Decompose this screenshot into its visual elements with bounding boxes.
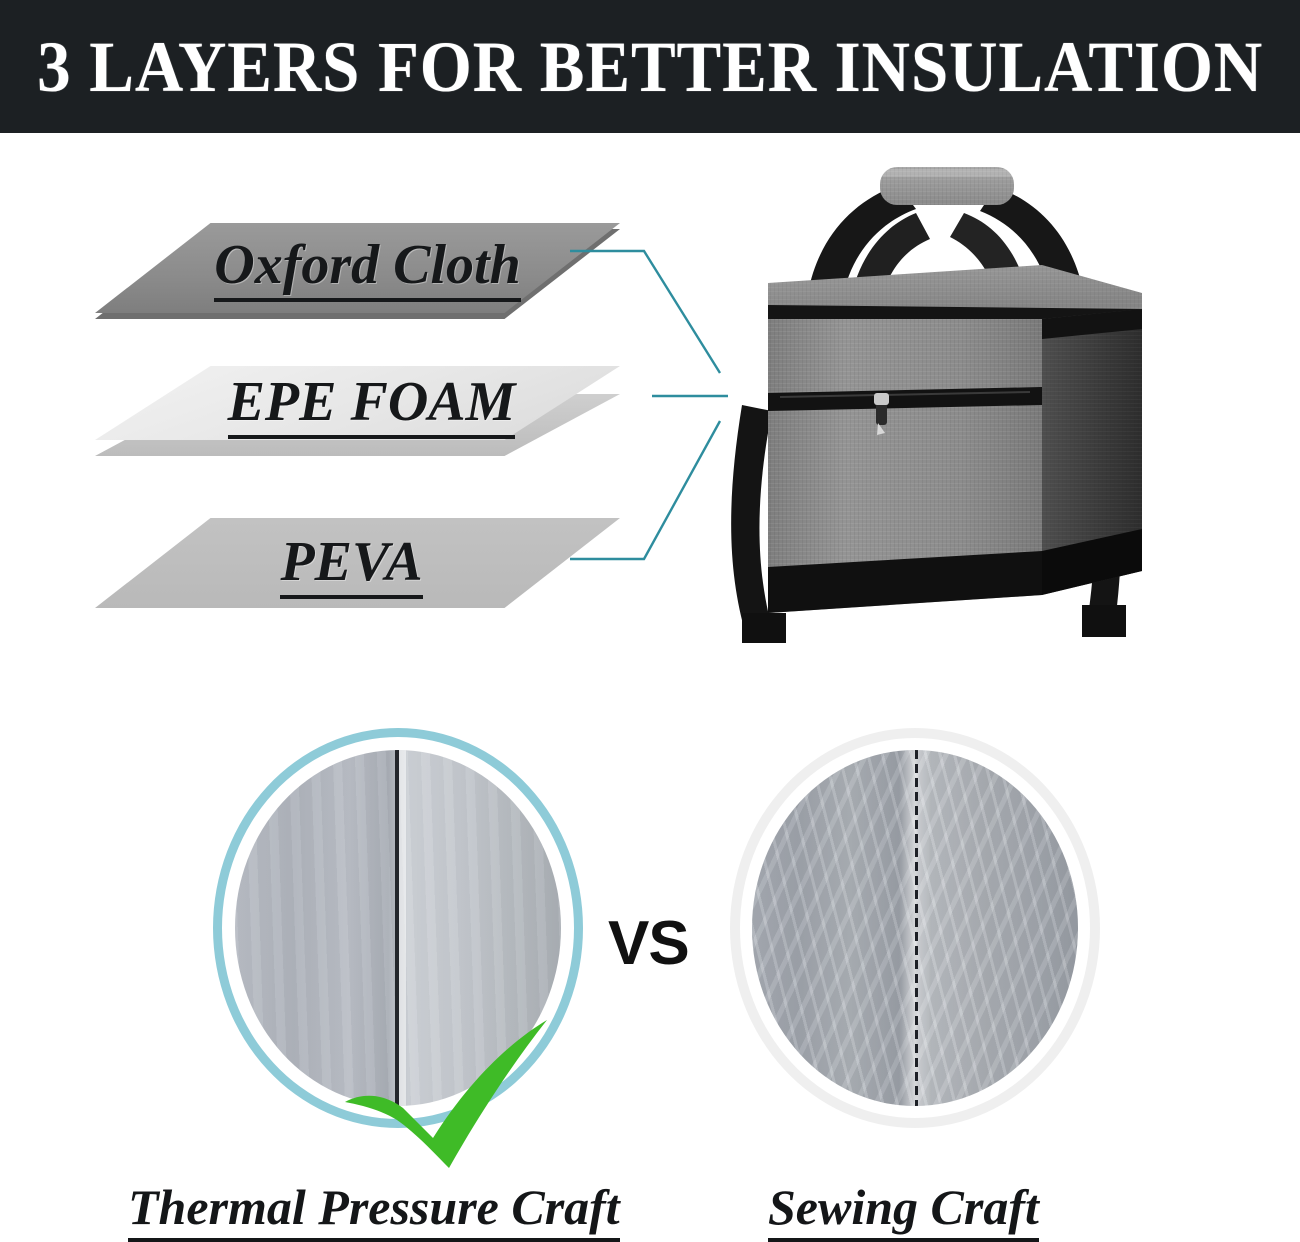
layer-slab-peva: PEVA (95, 518, 620, 608)
caption-sewing-craft-text: Sewing Craft (768, 1179, 1039, 1242)
header-banner: 3 LAYERS FOR BETTER INSULATION (0, 0, 1300, 133)
comparison-item-thermal-pressure (213, 728, 583, 1128)
layer-slab-oxford-cloth: Oxford Cloth (95, 223, 620, 313)
caption-thermal-pressure-craft: Thermal Pressure Craft (128, 1178, 620, 1236)
vs-label: VS (608, 908, 689, 979)
layer-label-peva: PEVA (89, 534, 614, 590)
layer-label-epe-foam: EPE FOAM (109, 374, 634, 430)
layer-slab-epe-foam: EPE FOAM (95, 366, 620, 478)
handle-grip-pad (880, 167, 1014, 205)
caption-thermal-pressure-craft-text: Thermal Pressure Craft (128, 1179, 620, 1242)
green-check-icon (341, 1006, 551, 1171)
page-title: 3 LAYERS FOR BETTER INSULATION (37, 31, 1263, 103)
comparison-item-sewing-craft (730, 728, 1100, 1128)
layer-diagram-section: Oxford Cloth EPE FOAM PEVA (0, 133, 1300, 710)
layer-label-epe-foam-text: EPE FOAM (228, 371, 516, 439)
layer-label-peva-text: PEVA (280, 531, 422, 599)
caption-sewing-craft: Sewing Craft (768, 1178, 1039, 1236)
cooler-bag-illustration (690, 143, 1190, 673)
layer-label-oxford-text: Oxford Cloth (214, 234, 521, 302)
sewn-stitch-line (915, 750, 918, 1106)
layer-label-oxford: Oxford Cloth (105, 237, 630, 293)
